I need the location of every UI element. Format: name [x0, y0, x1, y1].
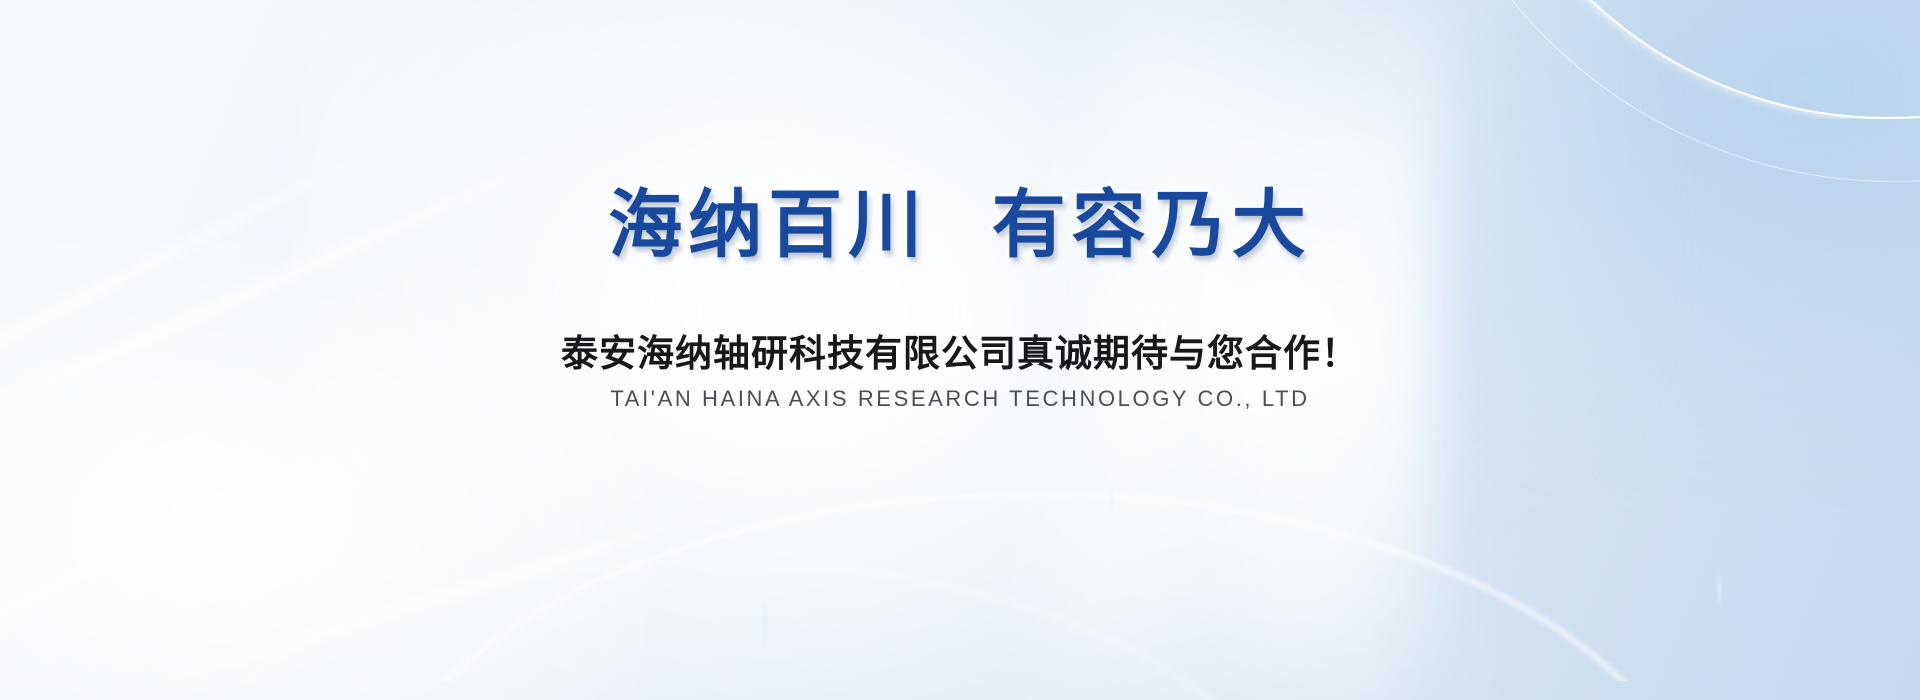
- hero-banner: 海纳百川 有容乃大 泰安海纳轴研科技有限公司真诚期待与您合作！ TAI'AN H…: [0, 0, 1920, 700]
- banner-subtitle-english: TAI'AN HAINA AXIS RESEARCH TECHNOLOGY CO…: [610, 387, 1309, 411]
- banner-headline: 海纳百川 有容乃大: [608, 188, 1312, 262]
- banner-subtitle-chinese: 泰安海纳轴研科技有限公司真诚期待与您合作！: [561, 334, 1359, 375]
- banner-content: 海纳百川 有容乃大 泰安海纳轴研科技有限公司真诚期待与您合作！ TAI'AN H…: [0, 0, 1920, 700]
